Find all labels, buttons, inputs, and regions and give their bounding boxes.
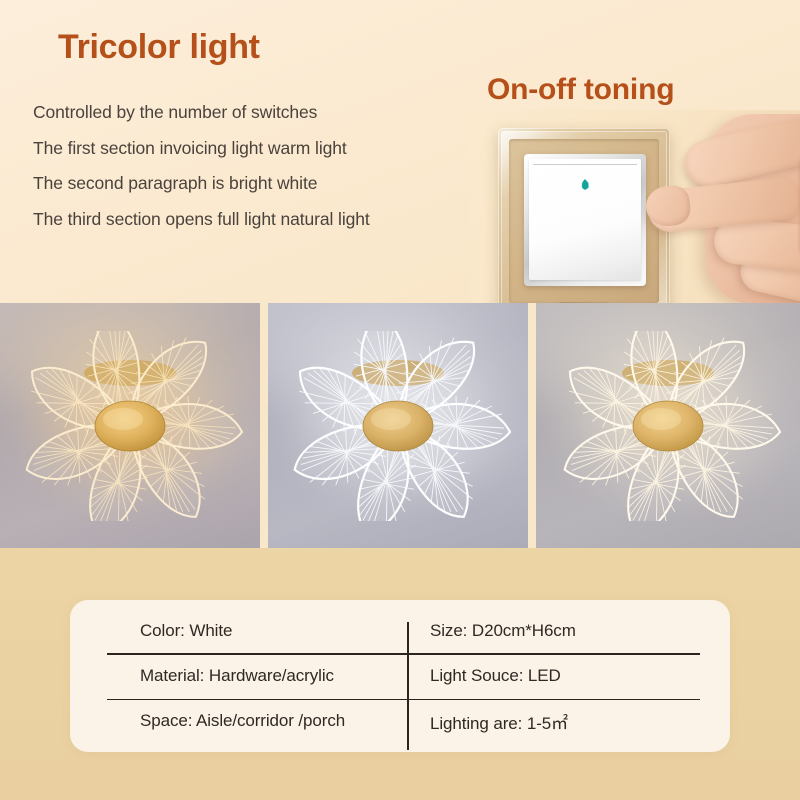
table-row: Space: Aisle/corridor /porch Lighting ar… xyxy=(107,699,737,744)
spec-light-source: Light Souce: LED xyxy=(407,666,700,686)
page-title: Tricolor light xyxy=(58,28,260,67)
switch-plate xyxy=(498,128,670,303)
spec-table: Color: White Size: D20cm*H6cm Material: … xyxy=(107,608,737,744)
spec-size: Size: D20cm*H6cm xyxy=(407,621,700,641)
table-row: Material: Hardware/acrylic Light Souce: … xyxy=(107,653,737,698)
gallery-panel-natural[interactable] xyxy=(536,303,800,548)
section-title-on-off-toning: On-off toning xyxy=(487,73,674,107)
spec-material: Material: Hardware/acrylic xyxy=(107,666,407,686)
flower-lamp-icon xyxy=(273,331,523,521)
switch-rocker-button[interactable] xyxy=(529,159,641,280)
feature-item: The second paragraph is bright white xyxy=(33,175,463,193)
ceiling-lamp-warm xyxy=(5,331,255,521)
gallery-gutter xyxy=(260,303,268,548)
spec-color: Color: White xyxy=(107,621,407,641)
lamp-gallery-strip xyxy=(0,303,800,548)
top-section: Tricolor light On-off toning Controlled … xyxy=(0,0,800,303)
gallery-gutter xyxy=(528,303,536,548)
product-infographic-page: Tricolor light On-off toning Controlled … xyxy=(0,0,800,800)
hand-pressing-switch xyxy=(648,110,800,303)
led-indicator-icon xyxy=(582,179,589,190)
gallery-panel-warm[interactable] xyxy=(0,303,260,548)
rocker-top-seam xyxy=(533,164,637,165)
feature-list: Controlled by the number of switches The… xyxy=(33,104,463,246)
gallery-panel-white[interactable] xyxy=(268,303,528,548)
flower-lamp-icon xyxy=(543,331,793,521)
feature-item: The third section opens full light natur… xyxy=(33,211,463,229)
feature-item: Controlled by the number of switches xyxy=(33,104,463,122)
switch-photo xyxy=(470,110,800,303)
flower-lamp-icon xyxy=(5,331,255,521)
feature-item: The first section invoicing light warm l… xyxy=(33,140,463,158)
spec-lighting-area: Lighting are: 1-5㎡ xyxy=(407,709,700,734)
spec-table-card: Color: White Size: D20cm*H6cm Material: … xyxy=(70,600,730,752)
ceiling-lamp-white xyxy=(273,331,523,521)
switch-rocker-bezel xyxy=(524,154,646,286)
spec-space: Space: Aisle/corridor /porch xyxy=(107,711,407,731)
table-row: Color: White Size: D20cm*H6cm xyxy=(107,608,737,653)
ceiling-lamp-natural xyxy=(543,331,793,521)
